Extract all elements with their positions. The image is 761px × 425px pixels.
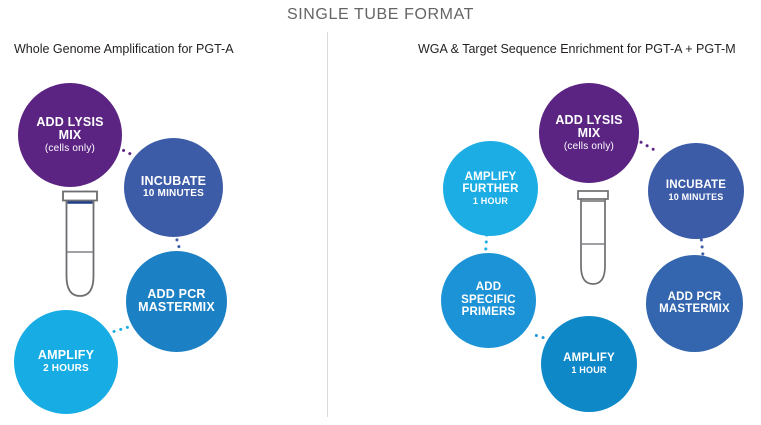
step-sublabel: 10 MINUTES [668,193,723,203]
step-sublabel: (cells only) [564,142,614,153]
step-add-lysis-mix[interactable]: ADD LYSIS MIX (cells only) [539,83,639,183]
step-label: ADD LYSIS MIX [555,114,622,141]
step-sublabel: 10 MINUTES [143,189,204,200]
step-label: INCUBATE [141,175,206,189]
step-amplify[interactable]: AMPLIFY 2 HOURS [14,310,118,414]
step-add-pcr-mastermix[interactable]: ADD PCR MASTERMIX [646,255,743,352]
step-label: ADD PCR MASTERMIX [138,288,215,315]
step-amplify-further[interactable]: AMPLIFY FURTHER 1 HOUR [443,141,538,236]
step-add-lysis-mix[interactable]: ADD LYSIS MIX (cells only) [18,83,122,187]
step-add-pcr-mastermix[interactable]: ADD PCR MASTERMIX [126,251,227,352]
diagram-canvas: SINGLE TUBE FORMAT Whole Genome Amplific… [0,0,761,425]
page-title: SINGLE TUBE FORMAT [0,6,761,24]
step-incubate[interactable]: INCUBATE 10 MINUTES [648,143,744,239]
step-sublabel: 1 HOUR [571,366,606,376]
step-label: AMPLIFY FURTHER [462,171,518,196]
step-label: INCUBATE [666,179,726,191]
step-label: ADD SPECIFIC PRIMERS [461,281,516,318]
step-incubate[interactable]: INCUBATE 10 MINUTES [124,138,223,237]
test-tube-right [568,188,618,292]
step-label: AMPLIFY [563,352,615,364]
step-label: ADD PCR MASTERMIX [659,291,730,316]
step-sublabel: (cells only) [45,144,95,155]
step-add-specific-primers[interactable]: ADD SPECIFIC PRIMERS [441,253,536,348]
connector-lysis-to-incubate [637,139,658,153]
panel-divider [327,32,328,417]
left-panel-title: Whole Genome Amplification for PGT-A [14,42,234,56]
step-amplify[interactable]: AMPLIFY 1 HOUR [541,316,637,412]
step-label: AMPLIFY [38,349,94,363]
step-label: ADD LYSIS MIX [36,116,103,143]
step-sublabel: 1 HOUR [473,197,508,207]
test-tube-left [52,188,108,306]
step-sublabel: 2 HOURS [43,364,89,375]
right-panel-title: WGA & Target Sequence Enrichment for PGT… [418,42,736,56]
